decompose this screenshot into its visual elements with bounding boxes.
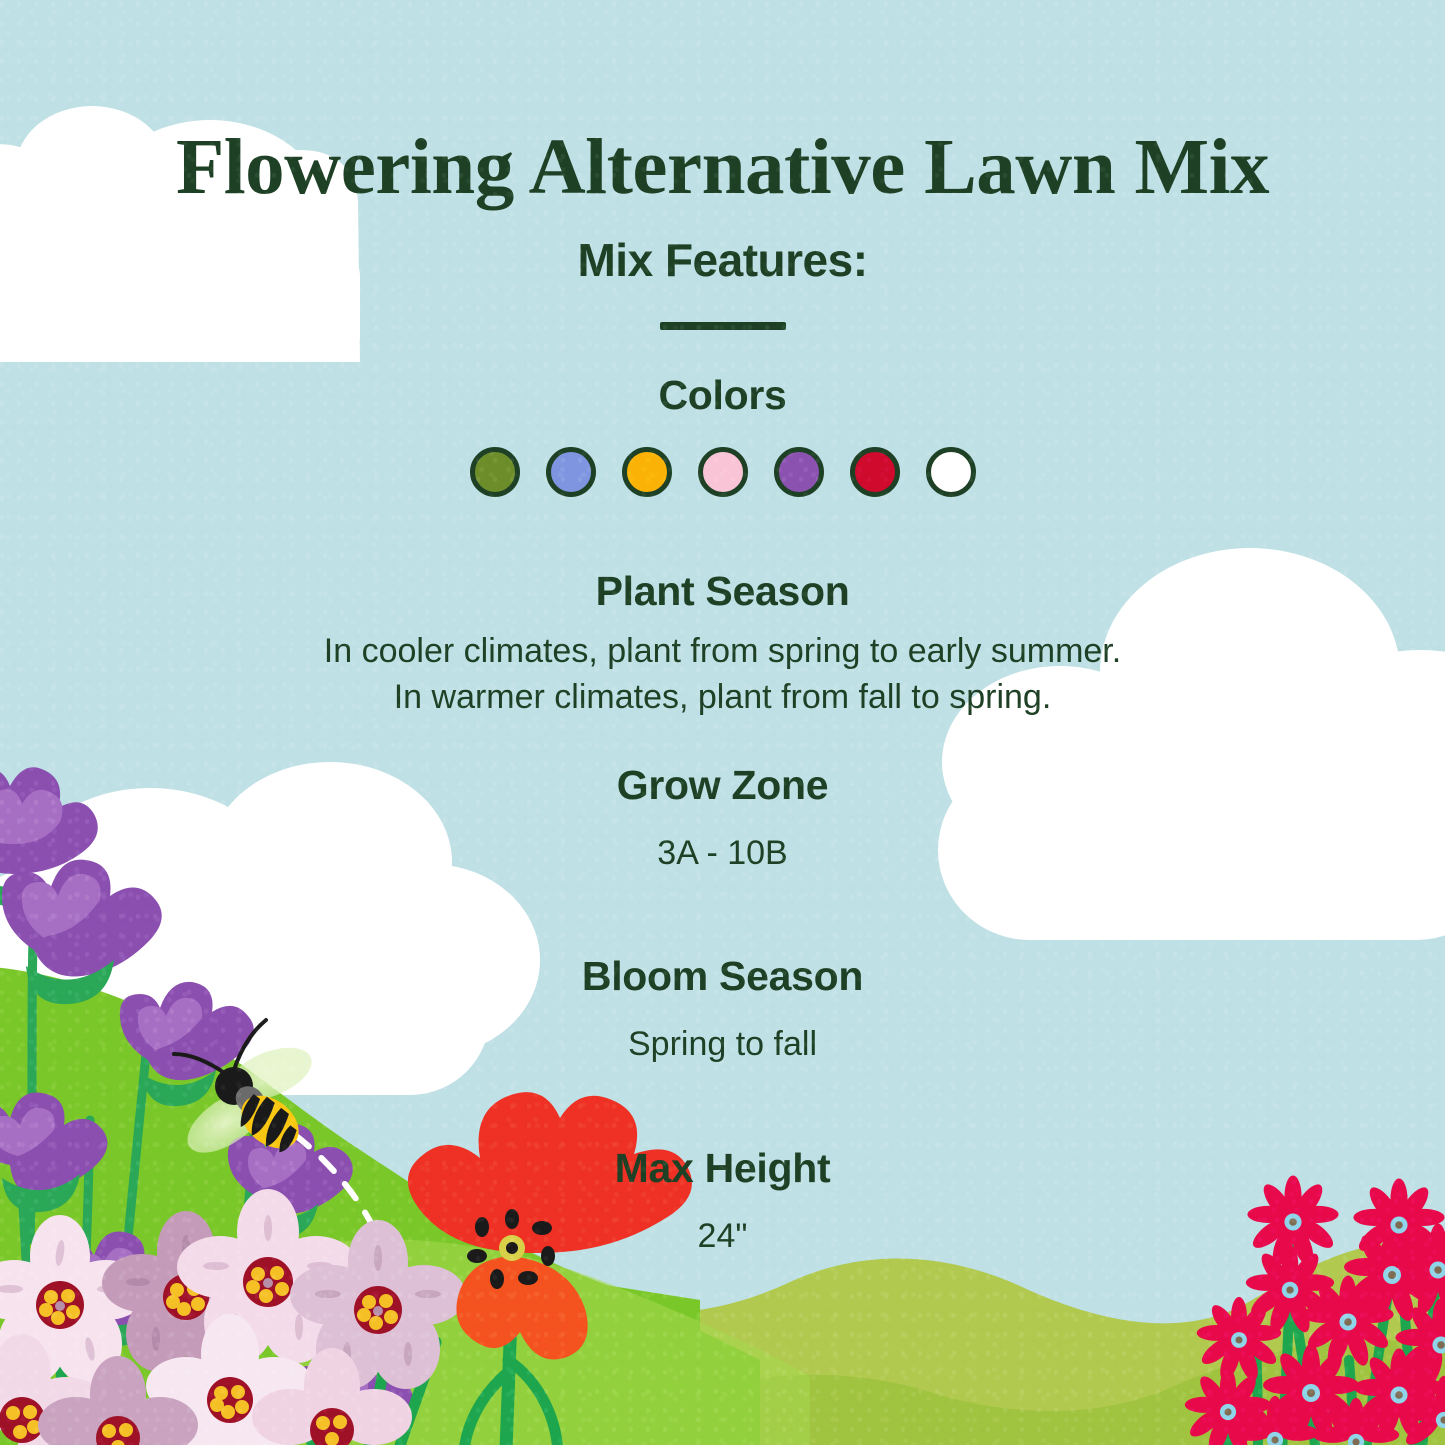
feature-grow-zone: Grow Zone 3A - 10B [0, 762, 1445, 877]
color-swatch-olive-green [470, 447, 520, 497]
colors-label: Colors [0, 372, 1445, 419]
color-swatch-light-pink [698, 447, 748, 497]
color-swatch-row [0, 447, 1445, 497]
color-swatch-white [926, 447, 976, 497]
grow-zone-label: Grow Zone [0, 762, 1445, 809]
grow-zone-value: 3A - 10B [0, 831, 1445, 877]
plant-season-label: Plant Season [0, 568, 1445, 615]
color-swatch-cornflower-blue [546, 447, 596, 497]
bloom-season-value: Spring to fall [0, 1022, 1445, 1068]
color-swatch-crimson-red [850, 447, 900, 497]
page-title: Flowering Alternative Lawn Mix [0, 127, 1445, 210]
section-divider [660, 322, 786, 330]
bloom-season-label: Bloom Season [0, 953, 1445, 1000]
feature-plant-season: Plant Season In cooler climates, plant f… [0, 568, 1445, 721]
max-height-value: 24" [0, 1214, 1445, 1260]
feature-max-height: Max Height 24" [0, 1145, 1445, 1260]
plant-season-value: In cooler climates, plant from spring to… [0, 629, 1445, 721]
color-swatch-purple [774, 447, 824, 497]
colors-section: Colors [0, 372, 1445, 419]
max-height-label: Max Height [0, 1145, 1445, 1192]
mix-features-subtitle: Mix Features: [0, 233, 1445, 287]
color-swatch-golden-yellow [622, 447, 672, 497]
product-infographic: Flowering Alternative Lawn Mix Mix Featu… [0, 0, 1445, 1445]
feature-bloom-season: Bloom Season Spring to fall [0, 953, 1445, 1068]
